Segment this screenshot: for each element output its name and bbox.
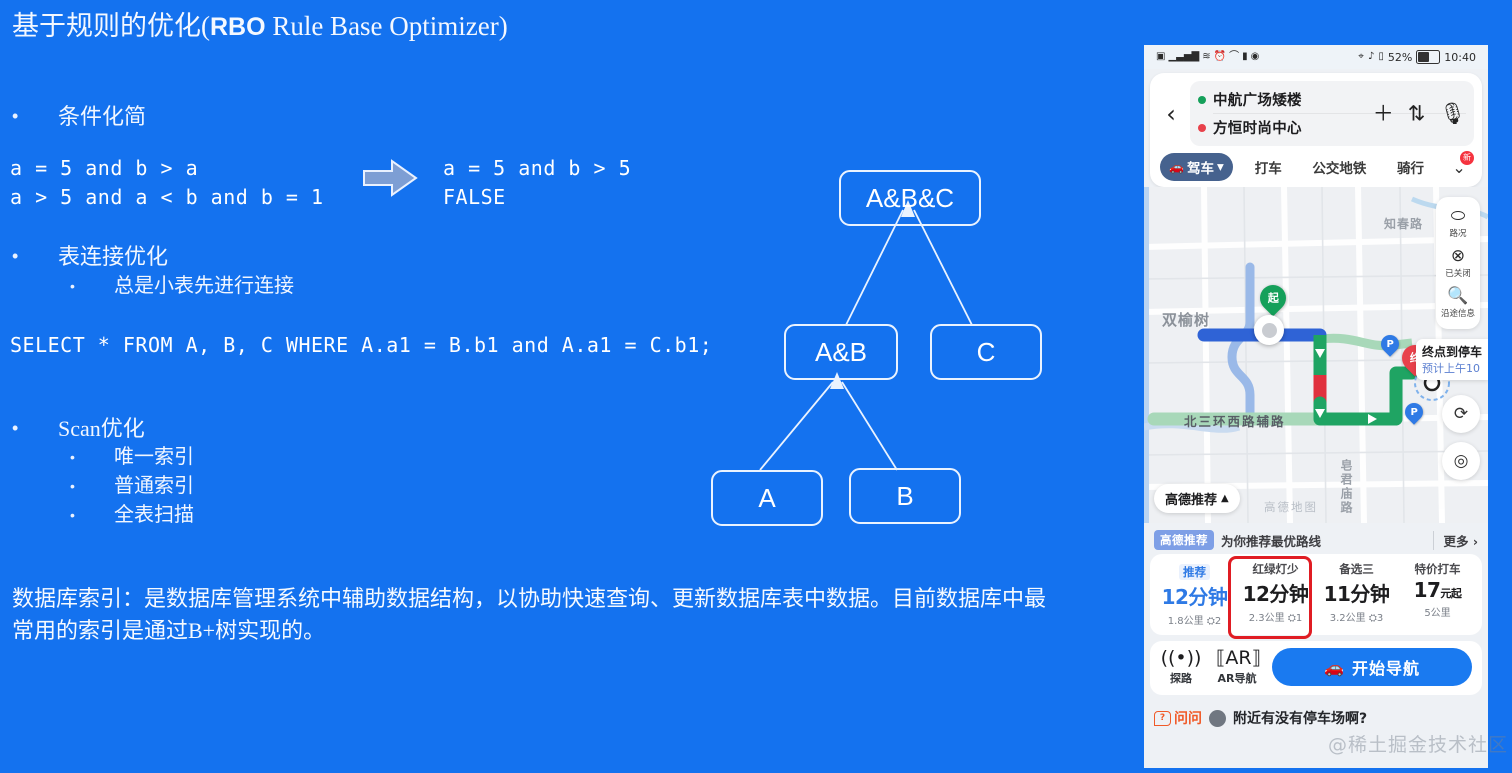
bullet-dot-icon: •	[12, 243, 30, 269]
tree-node-label: B	[896, 481, 913, 512]
map-control-label: 已关闭	[1436, 267, 1480, 279]
tree-node-label: C	[977, 337, 996, 368]
explore-button[interactable]: ((•)) 探路	[1160, 648, 1202, 686]
chevron-up-icon: ▲	[1221, 493, 1229, 504]
vibrate-icon: ▯	[1378, 52, 1384, 62]
ask-bar[interactable]: ? 问问 附近有没有停车场啊?	[1144, 702, 1488, 736]
start-navigation-label: 开始导航	[1352, 655, 1420, 679]
route-option-alt-three[interactable]: 备选三 11分钟 3.2公里 ⛭3	[1316, 561, 1397, 627]
route-option-meta: 3.2公里 ⛭3	[1316, 609, 1397, 624]
traffic-icon: ⬭	[1436, 207, 1480, 226]
route-option-name: 红绿灯少	[1235, 561, 1316, 577]
tree-node-a: A	[711, 470, 823, 526]
route-endpoints-box[interactable]: 中航广场矮楼 方恒时尚中心 ＋ ⇅ 🎙	[1190, 81, 1474, 146]
title-bold: RBO	[210, 13, 266, 41]
status-bar: ▣ ▁▃▅▇ ≋ ⏰ ⌒ ▮ ◉ ⌖ ♪ ▯ 52% 10:40	[1144, 45, 1488, 69]
map-recommend-pill[interactable]: 高德推荐 ▲	[1154, 484, 1240, 513]
map-label-zhichunlu: 知春路	[1384, 215, 1423, 232]
title-cn: 基于规则的优化(	[12, 11, 210, 41]
map-view[interactable]: 双榆树 知春路 皂君庙路 北三环西路辅路 起 终 P P 终点到停车 预计上午1…	[1144, 187, 1488, 523]
new-badge: 新	[1460, 151, 1474, 165]
lock-icon: ▮	[1242, 52, 1248, 62]
restriction-icon: ⊗	[1436, 247, 1480, 266]
battery-percent: 52%	[1388, 51, 1412, 64]
locate-icon: ◎	[1454, 451, 1469, 471]
signal-icon: ▁▃▅▇	[1168, 52, 1199, 62]
destination-dot-icon	[1198, 124, 1206, 132]
route-option-name: 特价打车	[1397, 561, 1478, 577]
radar-icon: ((•))	[1160, 648, 1202, 669]
bullet-condition-simplify: • 条件化简	[12, 103, 146, 131]
back-chevron-icon[interactable]: ‹	[1158, 101, 1184, 127]
parking-icon: P	[1410, 407, 1417, 418]
swap-icon[interactable]: ⇅	[1408, 103, 1426, 124]
tree-node-ab: A&B	[784, 324, 898, 380]
origin-dot-icon	[1198, 96, 1206, 104]
microphone-icon[interactable]: 🎙	[1439, 103, 1466, 124]
ask-question-text: 附近有没有停车场啊?	[1233, 708, 1367, 728]
tree-node-label: A&B&C	[866, 183, 954, 214]
ar-nav-label: AR导航	[1216, 670, 1258, 686]
travel-mode-tabs: 🚗 驾车 ▾ 打车 公交地铁 骑行 ⌄ 新	[1158, 153, 1474, 181]
route-option-price: 17	[1414, 578, 1441, 602]
current-position-puck	[1254, 315, 1284, 345]
bullet-join-sub: • 总是小表先进行连接	[70, 273, 294, 299]
question-bubble-icon: ?	[1154, 711, 1171, 726]
location-icon: ◉	[1251, 52, 1260, 62]
route-option-time: 12分钟	[1235, 578, 1316, 607]
bullet-dot-icon: •	[12, 103, 30, 129]
route-recommend-header: 高德推荐 为你推荐最优路线 更多 ›	[1144, 523, 1488, 554]
map-brand-watermark: 高德地图	[1264, 499, 1318, 515]
bullet-label: 唯一索引	[114, 444, 194, 470]
tree-node-b: B	[849, 468, 961, 524]
bullet-dot-icon: •	[70, 273, 88, 299]
route-headline: 为你推荐最优路线	[1221, 531, 1433, 550]
mic-icon: ♪	[1368, 52, 1374, 62]
explore-label: 探路	[1160, 670, 1202, 686]
mode-tab-driving[interactable]: 🚗 驾车 ▾	[1160, 153, 1233, 181]
route-option-cheap-taxi[interactable]: 特价打车 17元起 5公里	[1397, 561, 1478, 627]
car-icon: 🚗	[1169, 160, 1184, 174]
code-right-line2: FALSE	[443, 183, 506, 212]
map-refresh-button[interactable]: ⟳	[1442, 395, 1480, 433]
route-option-recommended[interactable]: 推荐 12分钟 1.8公里 ⛭2	[1154, 561, 1235, 627]
route-option-time: 17元起	[1397, 578, 1478, 602]
code-sql: SELECT * FROM A, B, C WHERE A.a1 = B.b1 …	[10, 331, 712, 360]
bullet-scan-optimize: • Scan优化	[12, 415, 145, 443]
route-option-time: 12分钟	[1154, 581, 1235, 610]
bullet-dot-icon: •	[70, 502, 88, 528]
route-option-meta: 1.8公里 ⛭2	[1154, 612, 1235, 627]
route-options-card: 推荐 12分钟 1.8公里 ⛭2 红绿灯少 12分钟 2.3公里 ⛭1 备选三 …	[1150, 554, 1482, 635]
implication-arrow-icon	[362, 158, 418, 198]
map-control-restriction[interactable]: ⊗ 已关闭	[1436, 243, 1480, 283]
map-control-label: 路况	[1436, 227, 1480, 239]
mode-tab-transit[interactable]: 公交地铁	[1304, 157, 1375, 177]
tree-node-label: A&B	[815, 337, 867, 368]
bullet-scan-sub-2: • 普通索引	[70, 473, 194, 499]
map-control-label: 沿途信息	[1436, 307, 1480, 319]
mode-tab-taxi[interactable]: 打车	[1233, 157, 1304, 177]
mode-tab-cycling[interactable]: 骑行	[1375, 157, 1446, 177]
tip-subtitle: 预计上午10	[1422, 360, 1482, 376]
bullet-label: 总是小表先进行连接	[114, 273, 294, 299]
map-locate-button[interactable]: ◎	[1442, 442, 1480, 480]
route-option-name: 备选三	[1316, 561, 1397, 577]
battery-icon	[1416, 50, 1440, 64]
location-pin-icon: ⌖	[1358, 52, 1364, 62]
tree-node-label: A	[758, 483, 775, 514]
bullet-label: 普通索引	[114, 473, 194, 499]
map-side-controls: ⬭ 路况 ⊗ 已关闭 🔍 沿途信息	[1436, 197, 1480, 329]
bullet-scan-sub-1: • 唯一索引	[70, 444, 194, 470]
join-tree-diagram: A&B&C A&B C A B	[700, 160, 1080, 540]
destination-parking-tip[interactable]: 终点到停车 预计上午10	[1416, 339, 1488, 380]
parking-icon: P	[1386, 339, 1393, 350]
search-row: ‹ 中航广场矮楼 方恒时尚中心 ＋ ⇅ 🎙	[1158, 81, 1474, 146]
search-card: ‹ 中航广场矮楼 方恒时尚中心 ＋ ⇅ 🎙	[1150, 73, 1482, 187]
car-icon: 🚗	[1324, 658, 1345, 677]
route-option-unit: 元起	[1440, 587, 1461, 600]
route-tag-chip: 高德推荐	[1154, 530, 1214, 550]
status-bar-left-icons: ▣ ▁▃▅▇ ≋ ⏰ ⌒ ▮ ◉	[1156, 52, 1259, 62]
wifi-icon: ≋	[1202, 52, 1210, 62]
map-label-shuangyushu: 双榆树	[1162, 309, 1210, 330]
map-recommend-label: 高德推荐	[1165, 489, 1217, 508]
route-option-name: 推荐	[1179, 564, 1210, 580]
bullet-dot-icon: •	[12, 415, 30, 441]
bullet-dot-icon: •	[70, 473, 88, 499]
route-more-button[interactable]: 更多 ›	[1433, 531, 1478, 550]
body-paragraph: 数据库索引：是数据库管理系统中辅助数据结构，以协助快速查询、更新数据库表中数据。…	[12, 583, 1052, 647]
map-control-traffic[interactable]: ⬭ 路况	[1436, 203, 1480, 243]
bullet-join-optimize: • 表连接优化	[12, 243, 168, 271]
map-label-zaojunmiaolu: 皂君庙路	[1338, 459, 1355, 515]
bullet-dot-icon: •	[70, 444, 88, 470]
alarm-icon: ⏰	[1214, 52, 1226, 62]
headphone-icon: ⌒	[1229, 52, 1239, 62]
origin-label: 中航广场矮楼	[1213, 89, 1302, 110]
bullet-label: 全表扫描	[114, 502, 194, 528]
ar-nav-button[interactable]: ⟦AR⟧ AR导航	[1216, 648, 1258, 686]
tree-node-c: C	[930, 324, 1042, 380]
bullet-scan-sub-3: • 全表扫描	[70, 502, 194, 528]
refresh-icon: ⟳	[1454, 404, 1468, 424]
code-right-line1: a = 5 and b > 5	[443, 154, 631, 183]
phone-screenshot-panel: ▣ ▁▃▅▇ ≋ ⏰ ⌒ ▮ ◉ ⌖ ♪ ▯ 52% 10:40 ‹	[1144, 45, 1488, 768]
ask-chip[interactable]: ? 问问	[1154, 708, 1202, 728]
mode-more-button[interactable]: ⌄ 新	[1446, 158, 1472, 177]
bullet-label: 表连接优化	[58, 243, 168, 271]
slide-background: 基于规则的优化(RBO Rule Base Optimizer) • 条件化简 …	[0, 0, 1512, 773]
status-time: 10:40	[1444, 51, 1476, 64]
navigation-action-bar: ((•)) 探路 ⟦AR⟧ AR导航 🚗 开始导航	[1150, 641, 1482, 695]
avatar	[1209, 710, 1226, 727]
bullet-label: 条件化简	[58, 103, 146, 131]
plus-icon[interactable]: ＋	[1373, 103, 1394, 124]
start-marker-label: 起	[1268, 290, 1279, 306]
start-navigation-button[interactable]: 🚗 开始导航	[1272, 648, 1472, 686]
ask-chip-label: 问问	[1174, 708, 1202, 728]
status-bar-right: ⌖ ♪ ▯ 52% 10:40	[1358, 50, 1476, 64]
route-option-fewer-lights[interactable]: 红绿灯少 12分钟 2.3公里 ⛭1	[1235, 561, 1316, 627]
route-option-meta: 5公里	[1397, 604, 1478, 619]
tip-title: 终点到停车	[1422, 343, 1482, 360]
route-option-meta: 2.3公里 ⛭1	[1235, 609, 1316, 624]
map-control-route-info[interactable]: 🔍 沿途信息	[1436, 283, 1480, 323]
ar-icon: ⟦AR⟧	[1216, 648, 1258, 669]
code-left-line2: a > 5 and a < b and b = 1	[10, 183, 324, 212]
code-left-line1: a = 5 and b > a	[10, 154, 198, 183]
bullet-label: Scan优化	[58, 415, 145, 443]
hd-icon: ▣	[1156, 52, 1165, 62]
tree-node-root: A&B&C	[839, 170, 981, 226]
page-title: 基于规则的优化(RBO Rule Base Optimizer)	[12, 9, 508, 44]
mode-tab-label: 驾车	[1187, 157, 1214, 177]
search-icon: 🔍	[1436, 287, 1480, 306]
title-rest: Rule Base Optimizer)	[266, 11, 508, 41]
route-option-time: 11分钟	[1316, 578, 1397, 607]
map-road-label: 北三环西路辅路	[1184, 411, 1286, 430]
chevron-down-icon: ▾	[1217, 159, 1224, 175]
search-action-icons: ＋ ⇅ 🎙	[1373, 103, 1466, 124]
destination-label: 方恒时尚中心	[1213, 117, 1302, 138]
